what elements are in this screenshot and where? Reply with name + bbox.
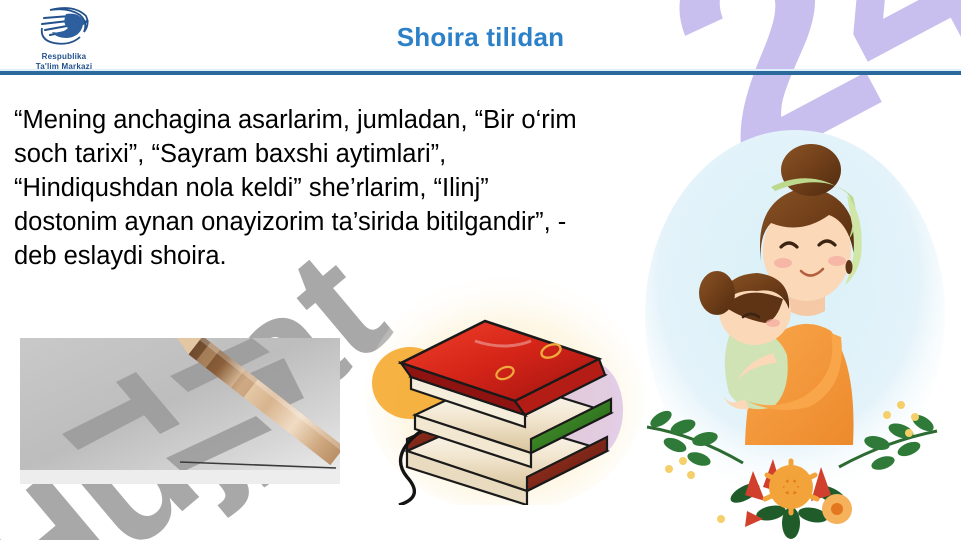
stack-of-books-illustration [355, 255, 645, 505]
slide-body-text: “Mening anchagina asarlarim, jumladan, “… [14, 103, 594, 273]
slide-title: Shoira tilidan [0, 22, 961, 53]
pencil-drawing-line-photo [20, 338, 340, 484]
organization-name: Respublika Ta'lim Markazi [18, 52, 110, 71]
header-divider-rule [0, 71, 961, 75]
mother-hugging-child-illustration [625, 115, 961, 540]
presentation-slide: 24 Hujjat [0, 0, 961, 540]
